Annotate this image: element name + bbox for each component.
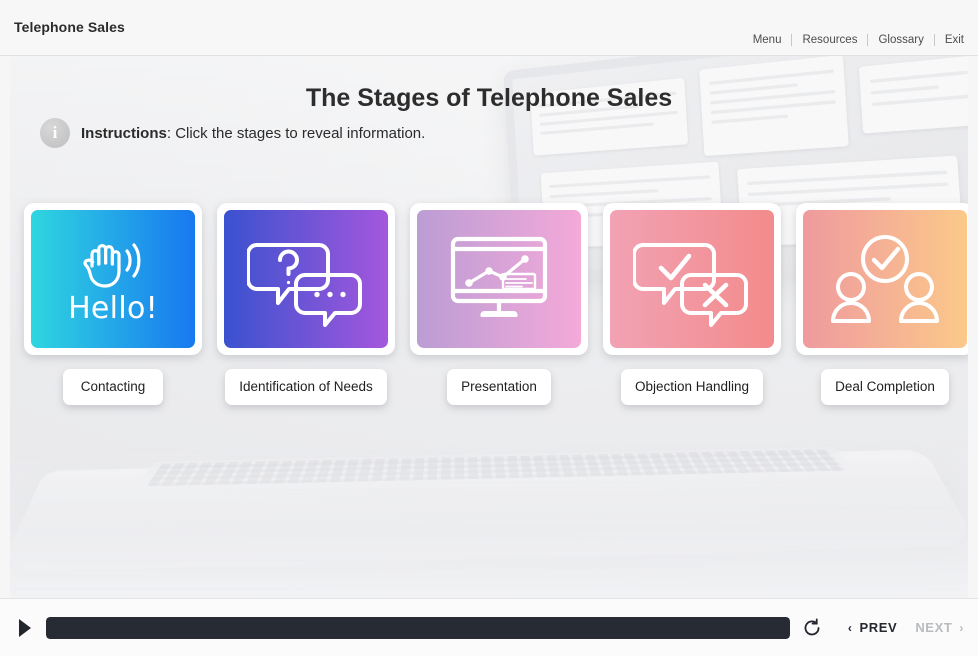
slide-stage: The Stages of Telephone Sales i Instruct… (10, 56, 968, 598)
waving-hand-icon: Hello! (68, 235, 158, 324)
replay-icon[interactable] (800, 616, 824, 640)
stage-tile-art (417, 210, 581, 348)
page-title: The Stages of Telephone Sales (10, 84, 968, 113)
stage-tile-art (610, 210, 774, 348)
progress-scrubber[interactable] (46, 617, 790, 639)
info-icon: i (40, 118, 70, 148)
course-title: Telephone Sales (14, 19, 125, 35)
stage-tile-art (224, 210, 388, 348)
instructions-body: Click the stages to reveal information. (175, 125, 425, 142)
instructions-label: Instructions (81, 125, 167, 142)
people-check-icon (829, 231, 941, 327)
progress-fill (46, 617, 790, 639)
pager-controls: ‹ PREV NEXT › (848, 620, 964, 635)
stage-label-presentation[interactable]: Presentation (447, 369, 551, 405)
nav-link-resources[interactable]: Resources (792, 34, 867, 46)
header-nav: Menu Resources Glossary Exit (743, 34, 964, 46)
chevron-left-icon: ‹ (848, 622, 853, 634)
prev-label: PREV (860, 620, 898, 635)
stage-tile-art (803, 210, 967, 348)
stage-tile-identification-of-needs[interactable] (217, 203, 395, 355)
chevron-right-icon: › (959, 622, 964, 634)
stage-tile-contacting[interactable]: Hello! (24, 203, 202, 355)
next-button[interactable]: NEXT › (915, 620, 964, 635)
stage-card-contacting: Hello! Contacting (24, 203, 202, 405)
stage-card-deal-completion: Deal Completion (796, 203, 968, 405)
prev-button[interactable]: ‹ PREV (848, 620, 897, 635)
stage-label-identification-of-needs[interactable]: Identification of Needs (225, 369, 387, 405)
nav-link-glossary[interactable]: Glossary (868, 34, 933, 46)
player-header: Telephone Sales Menu Resources Glossary … (0, 0, 978, 56)
next-label: NEXT (915, 620, 952, 635)
stage-tile-art: Hello! (31, 210, 195, 348)
stage-label-deal-completion[interactable]: Deal Completion (821, 369, 949, 405)
hello-text: Hello! (68, 294, 158, 324)
play-icon[interactable] (14, 616, 36, 640)
stage-label-objection-handling[interactable]: Objection Handling (621, 369, 763, 405)
instructions-text: Instructions: Click the stages to reveal… (81, 125, 425, 142)
course-player: Telephone Sales Menu Resources Glossary … (0, 0, 978, 656)
stage-tile-objection-handling[interactable] (603, 203, 781, 355)
stage-cards: Hello! Contacting (24, 203, 968, 405)
instructions: i Instructions: Click the stages to reve… (40, 118, 425, 148)
monitor-chart-icon (447, 233, 551, 325)
nav-link-menu[interactable]: Menu (743, 34, 792, 46)
player-footer: ‹ PREV NEXT › (0, 598, 978, 656)
play-glyph (18, 619, 32, 637)
stage-card-objection-handling: Objection Handling (603, 203, 781, 405)
stage-tile-deal-completion[interactable] (796, 203, 968, 355)
stage-tile-presentation[interactable] (410, 203, 588, 355)
nav-link-exit[interactable]: Exit (935, 34, 964, 46)
stage-card-presentation: Presentation (410, 203, 588, 405)
question-speech-bubbles-icon (247, 231, 365, 327)
stage-label-contacting[interactable]: Contacting (63, 369, 163, 405)
instructions-separator: : (167, 125, 175, 142)
check-cross-speech-bubbles-icon (633, 231, 751, 327)
stage-card-identification-of-needs: Identification of Needs (217, 203, 395, 405)
replay-glyph (802, 618, 822, 638)
